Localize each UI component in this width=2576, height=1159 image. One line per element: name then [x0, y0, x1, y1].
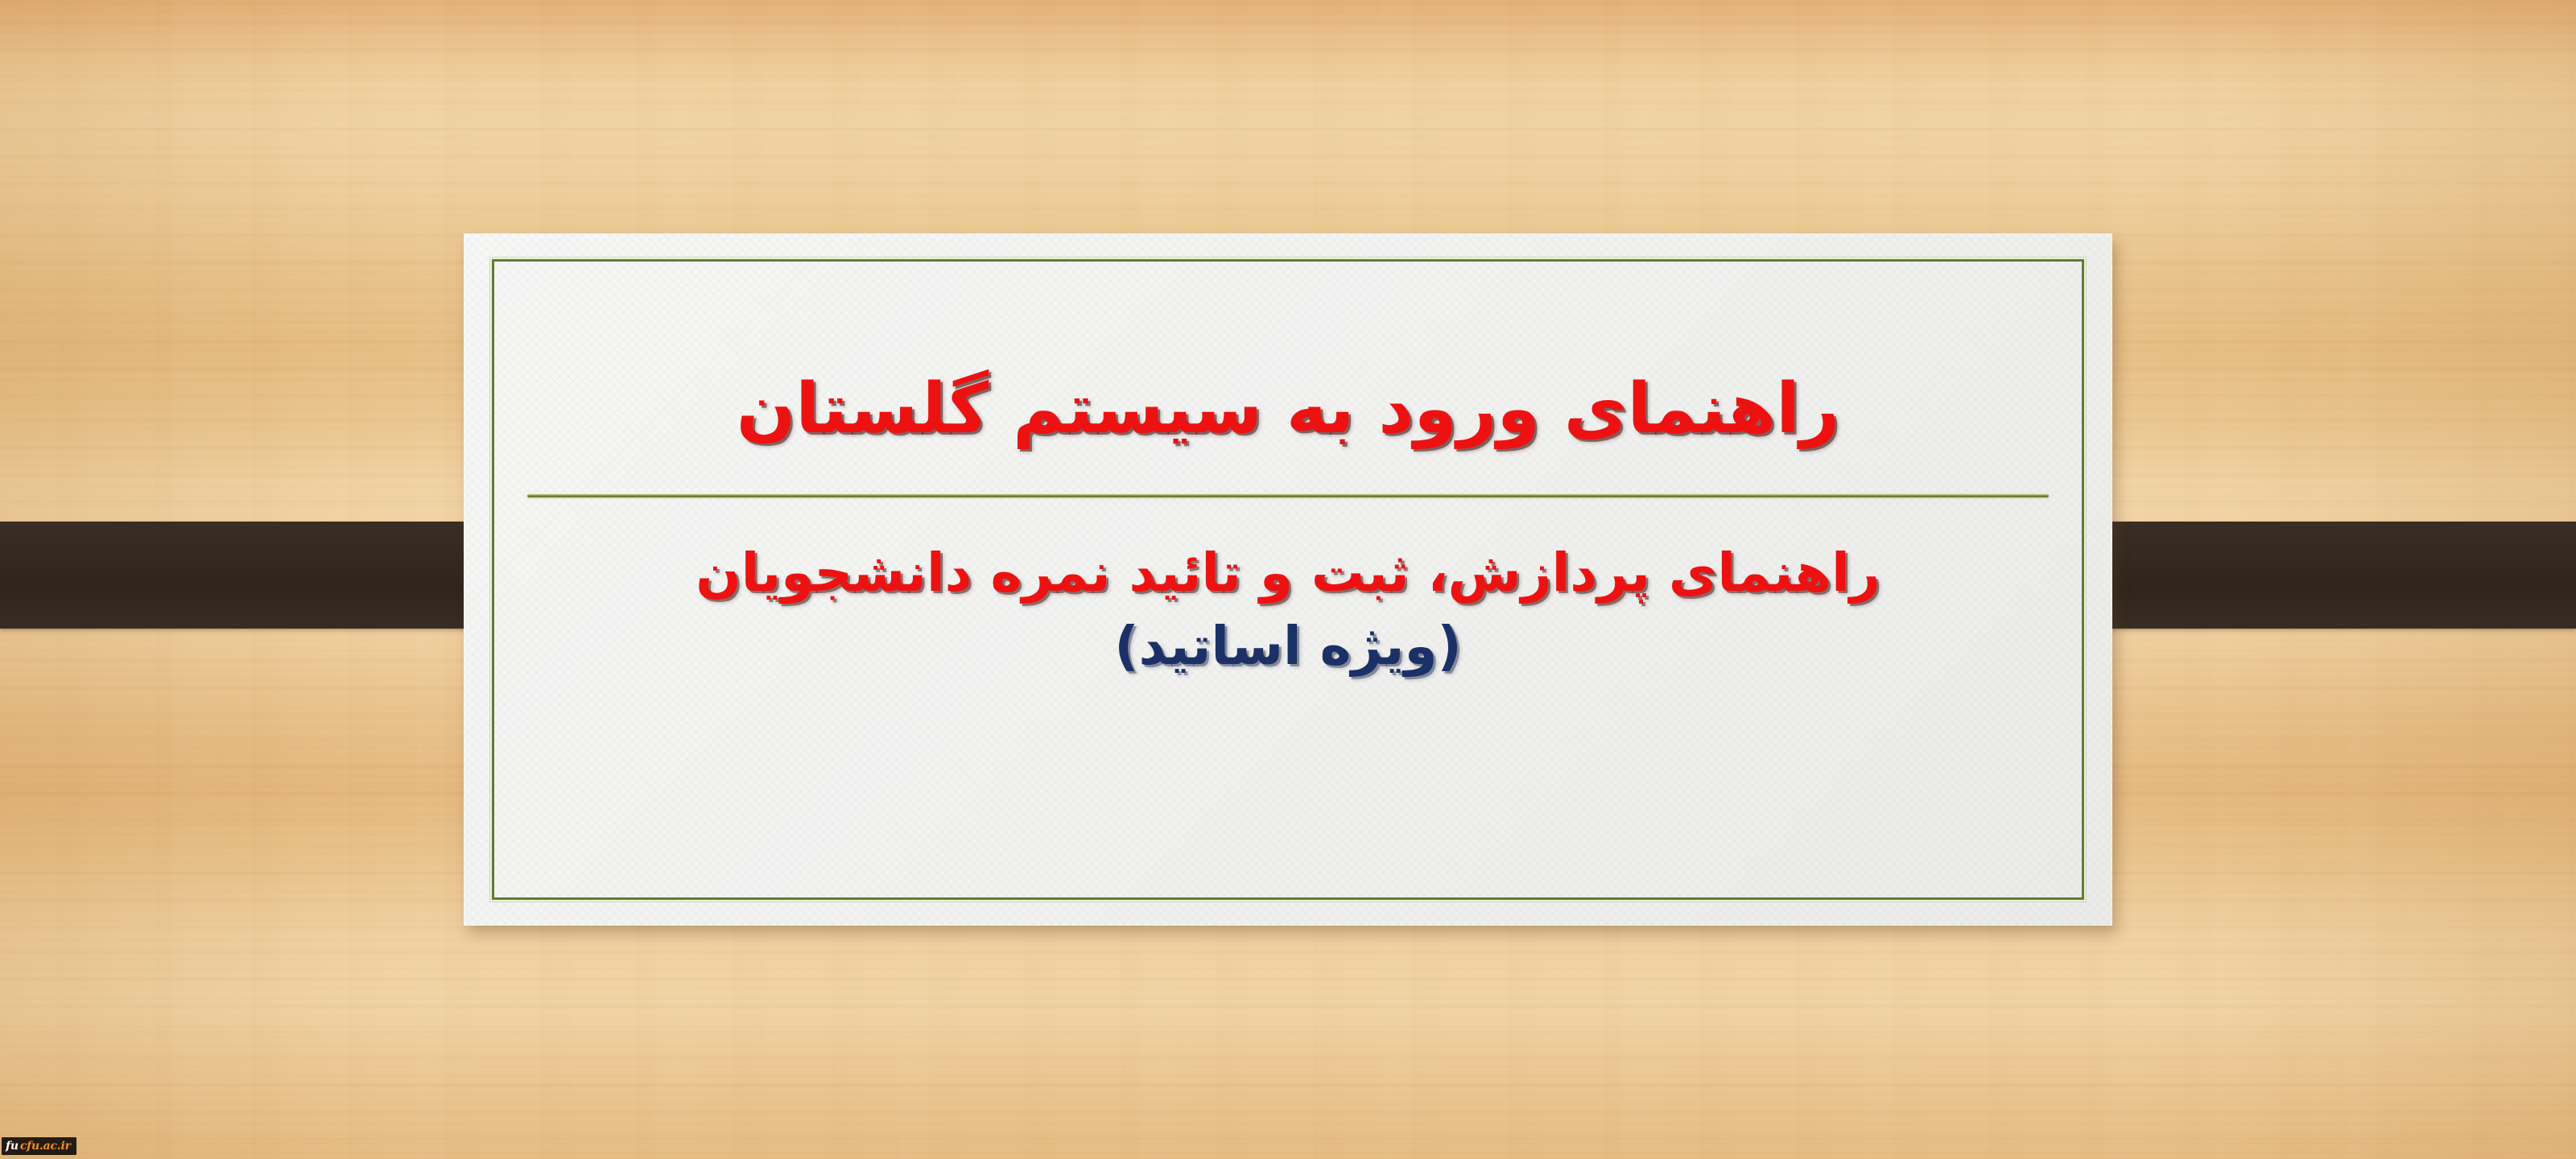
title-card: راهنمای ورود به سیستم گلستان راهنمای پرد…: [464, 233, 2112, 926]
site-watermark-badge: fu cfu.ac.ir: [2, 1137, 76, 1155]
card-content: راهنمای ورود به سیستم گلستان راهنمای پرد…: [464, 233, 2112, 926]
title-divider: [527, 494, 2049, 497]
watermark-mark-text: fu: [6, 1140, 19, 1152]
ribbon-band-left: [0, 522, 531, 629]
slide-title: راهنمای ورود به سیستم گلستان: [737, 370, 1839, 448]
presentation-slide: راهنمای ورود به سیستم گلستان راهنمای پرد…: [0, 0, 2576, 1159]
watermark-domain-text: cfu.ac.ir: [20, 1140, 71, 1152]
slide-subtitle-line-2: (ویژه اساتید): [1114, 611, 1461, 681]
ribbon-band-right: [2045, 522, 2576, 629]
slide-subtitle-line-1: راهنمای پردازش، ثبت و تائید نمره دانشجوی…: [696, 538, 1880, 608]
